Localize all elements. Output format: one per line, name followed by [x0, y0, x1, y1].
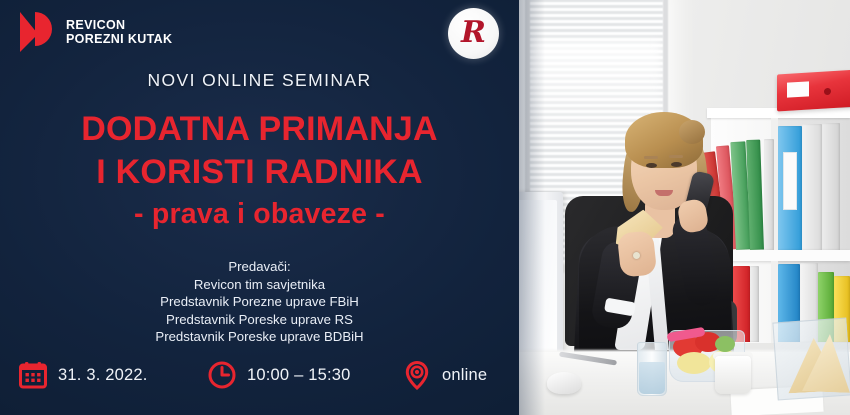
binder [764, 139, 774, 250]
event-time-label: 10:00 – 15:30 [247, 366, 351, 385]
office-photo [519, 0, 850, 415]
ring [633, 252, 640, 259]
speaker-item: Predstavnik Poreske uprave BDBiH [0, 328, 519, 346]
water [639, 362, 665, 394]
event-date: 31. 3. 2022. [18, 360, 148, 390]
map-pin-icon [402, 360, 432, 390]
binder-label [783, 152, 797, 210]
event-time: 10:00 – 15:30 [207, 360, 351, 390]
event-location: online [402, 360, 487, 390]
revicon-r-mark-icon [14, 8, 58, 56]
binder [822, 123, 840, 250]
speaker-item: Predstavnik Poreske uprave RS [0, 311, 519, 329]
headline: DODATNA PRIMANJA I KORISTI RADNIKA - pra… [0, 108, 519, 234]
headline-line-1: DODATNA PRIMANJA [0, 108, 519, 151]
event-date-label: 31. 3. 2022. [58, 366, 148, 385]
yogurt-cup [715, 356, 751, 394]
salad-piece [677, 352, 711, 374]
speakers-heading: Predavači: [0, 258, 519, 276]
seal-letter: R [461, 18, 486, 48]
kicker-text: NOVI ONLINE SEMINAR [0, 70, 519, 91]
brand-name-line1: REVICON [66, 18, 172, 32]
headline-line-3: - prava i obaveze - [0, 194, 519, 234]
photo-edge-shading [519, 0, 545, 415]
revicon-round-seal-icon: R [448, 8, 499, 59]
hair-bun [679, 120, 705, 144]
brand-logo[interactable]: REVICON POREZNI KUTAK [14, 8, 172, 56]
binder [750, 266, 759, 342]
event-meta-bar: 31. 3. 2022. 10:00 – 15:30 [0, 352, 519, 398]
eyebrow-right [669, 155, 683, 158]
red-box-file-label [787, 81, 809, 97]
eye-right [671, 162, 682, 167]
brand-name-line2: POREZNI KUTAK [66, 32, 172, 46]
speaker-item: Predstavnik Porezne uprave FBiH [0, 293, 519, 311]
binder [802, 124, 822, 250]
headline-line-2: I KORISTI RADNIKA [0, 151, 519, 194]
speaker-item: Revicon tim savjetnika [0, 276, 519, 294]
event-location-label: online [442, 366, 487, 385]
seminar-promo-banner: REVICON POREZNI KUTAK R NOVI ONLINE SEMI… [0, 0, 850, 415]
salad-piece [715, 336, 735, 352]
computer-mouse [547, 372, 581, 394]
eye-left [646, 163, 657, 168]
brand-wordmark: REVICON POREZNI KUTAK [66, 18, 172, 46]
speakers-list: Predavači: Revicon tim savjetnika Predst… [0, 258, 519, 346]
calendar-icon [18, 360, 48, 390]
info-panel: REVICON POREZNI KUTAK R NOVI ONLINE SEMI… [0, 0, 519, 415]
eyebrow-left [644, 156, 658, 159]
clock-icon [207, 360, 237, 390]
